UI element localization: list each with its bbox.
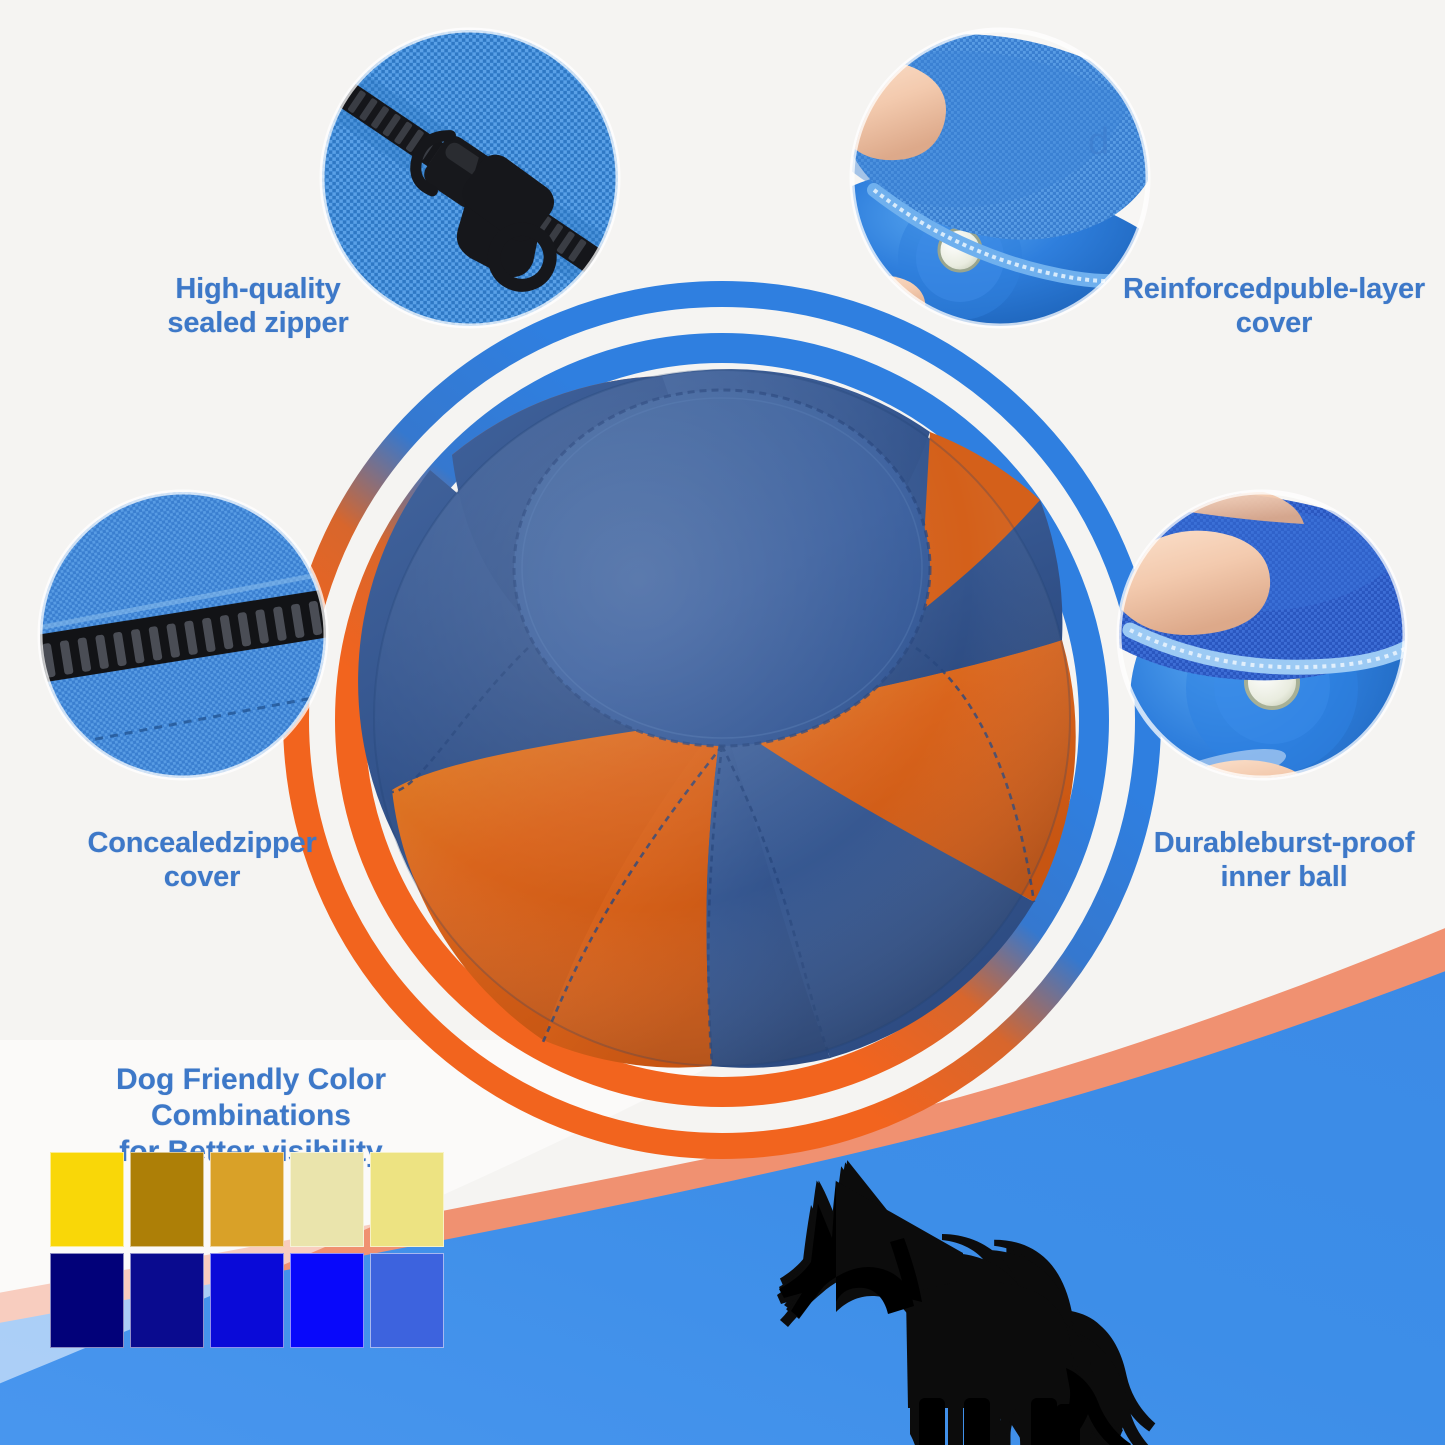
callout-label-concealed-zipper-cover: Concealedzipper cover [52,826,352,894]
callout-label-durable-burst-proof-inner-ball: Durableburst-proof inner ball [1124,826,1444,894]
infographic-canvas: d [0,0,1445,1445]
palette-row-warm [50,1152,444,1247]
palette-swatch-warm-5 [370,1152,444,1247]
palette-swatch-warm-3 [210,1152,284,1247]
palette-swatch-warm-1 [50,1152,124,1247]
product-ball [358,369,1076,1068]
palette-swatch-cool-5 [370,1253,444,1348]
palette-swatch-warm-4 [290,1152,364,1247]
palette-swatch-cool-3 [210,1253,284,1348]
palette-swatch-warm-2 [130,1152,204,1247]
ball-shading [374,370,1070,1066]
svg-text:d: d [1088,121,1109,163]
palette-row-cool [50,1253,444,1348]
palette-swatch-cool-1 [50,1253,124,1348]
callout-label-high-quality-sealed-zipper: High-quality sealed zipper [108,272,408,340]
palette-swatch-cool-2 [130,1253,204,1348]
palette-swatch-cool-4 [290,1253,364,1348]
callout-label-reinforced-double-layer-cover: Reinforcedpuble-layer cover [1104,272,1444,340]
